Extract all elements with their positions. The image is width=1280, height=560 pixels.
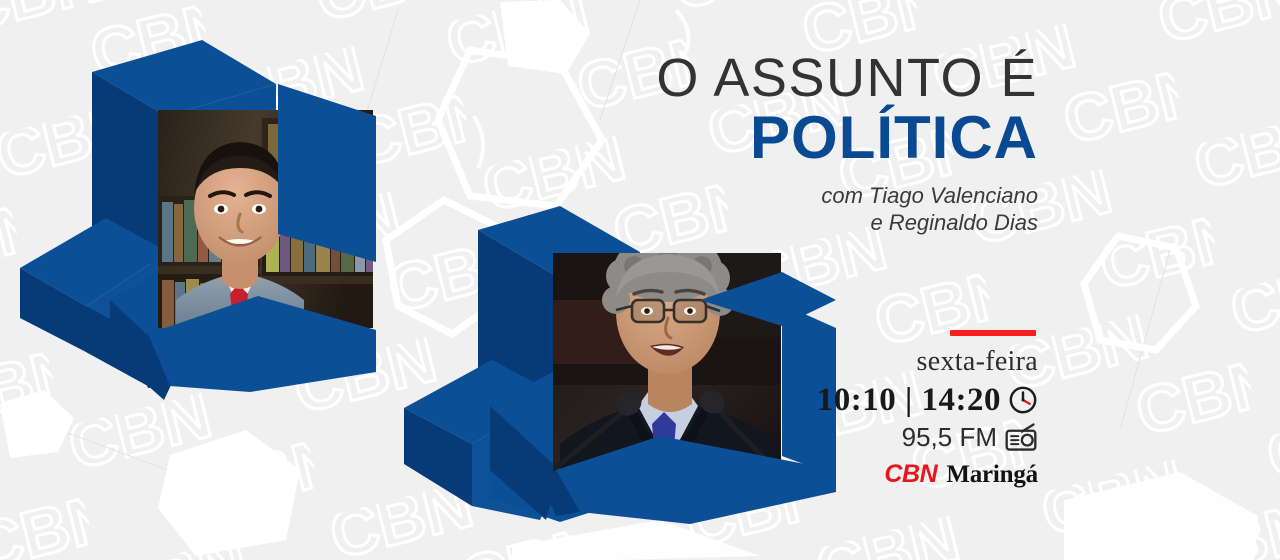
broadcast-day: sexta-feira [738, 347, 1038, 377]
station-city: Maringá [946, 462, 1038, 488]
page-title: O ASSUNTO É [478, 48, 1038, 108]
broadcast-frequency-row: 95,5 FM [738, 422, 1038, 452]
red-divider-rule [950, 330, 1036, 336]
clock-icon [1008, 385, 1038, 415]
radio-icon [1004, 422, 1038, 452]
program-headline: O ASSUNTO É POLÍTICA com Tiago Valencian… [478, 48, 1038, 236]
broadcast-frequency: 95,5 FM [902, 422, 997, 452]
broadcast-times: 10:10 | 14:20 [817, 382, 1001, 418]
cbn-logo-text: CBN [884, 461, 937, 487]
host-credits: com Tiago Valenciano e Reginaldo Dias [478, 182, 1038, 236]
broadcast-schedule: sexta-feira 10:10 | 14:20 95,5 FM [738, 330, 1038, 488]
page-title-accent: POLÍTICA [478, 106, 1038, 170]
broadcast-times-row: 10:10 | 14:20 [738, 382, 1038, 418]
host-credit-line-2: e Reginaldo Dias [478, 209, 1038, 236]
station-logo: CBN Maringá [738, 461, 1038, 488]
program-banner: CBN CBN [0, 0, 1280, 560]
host-credit-line-1: com Tiago Valenciano [478, 182, 1038, 209]
